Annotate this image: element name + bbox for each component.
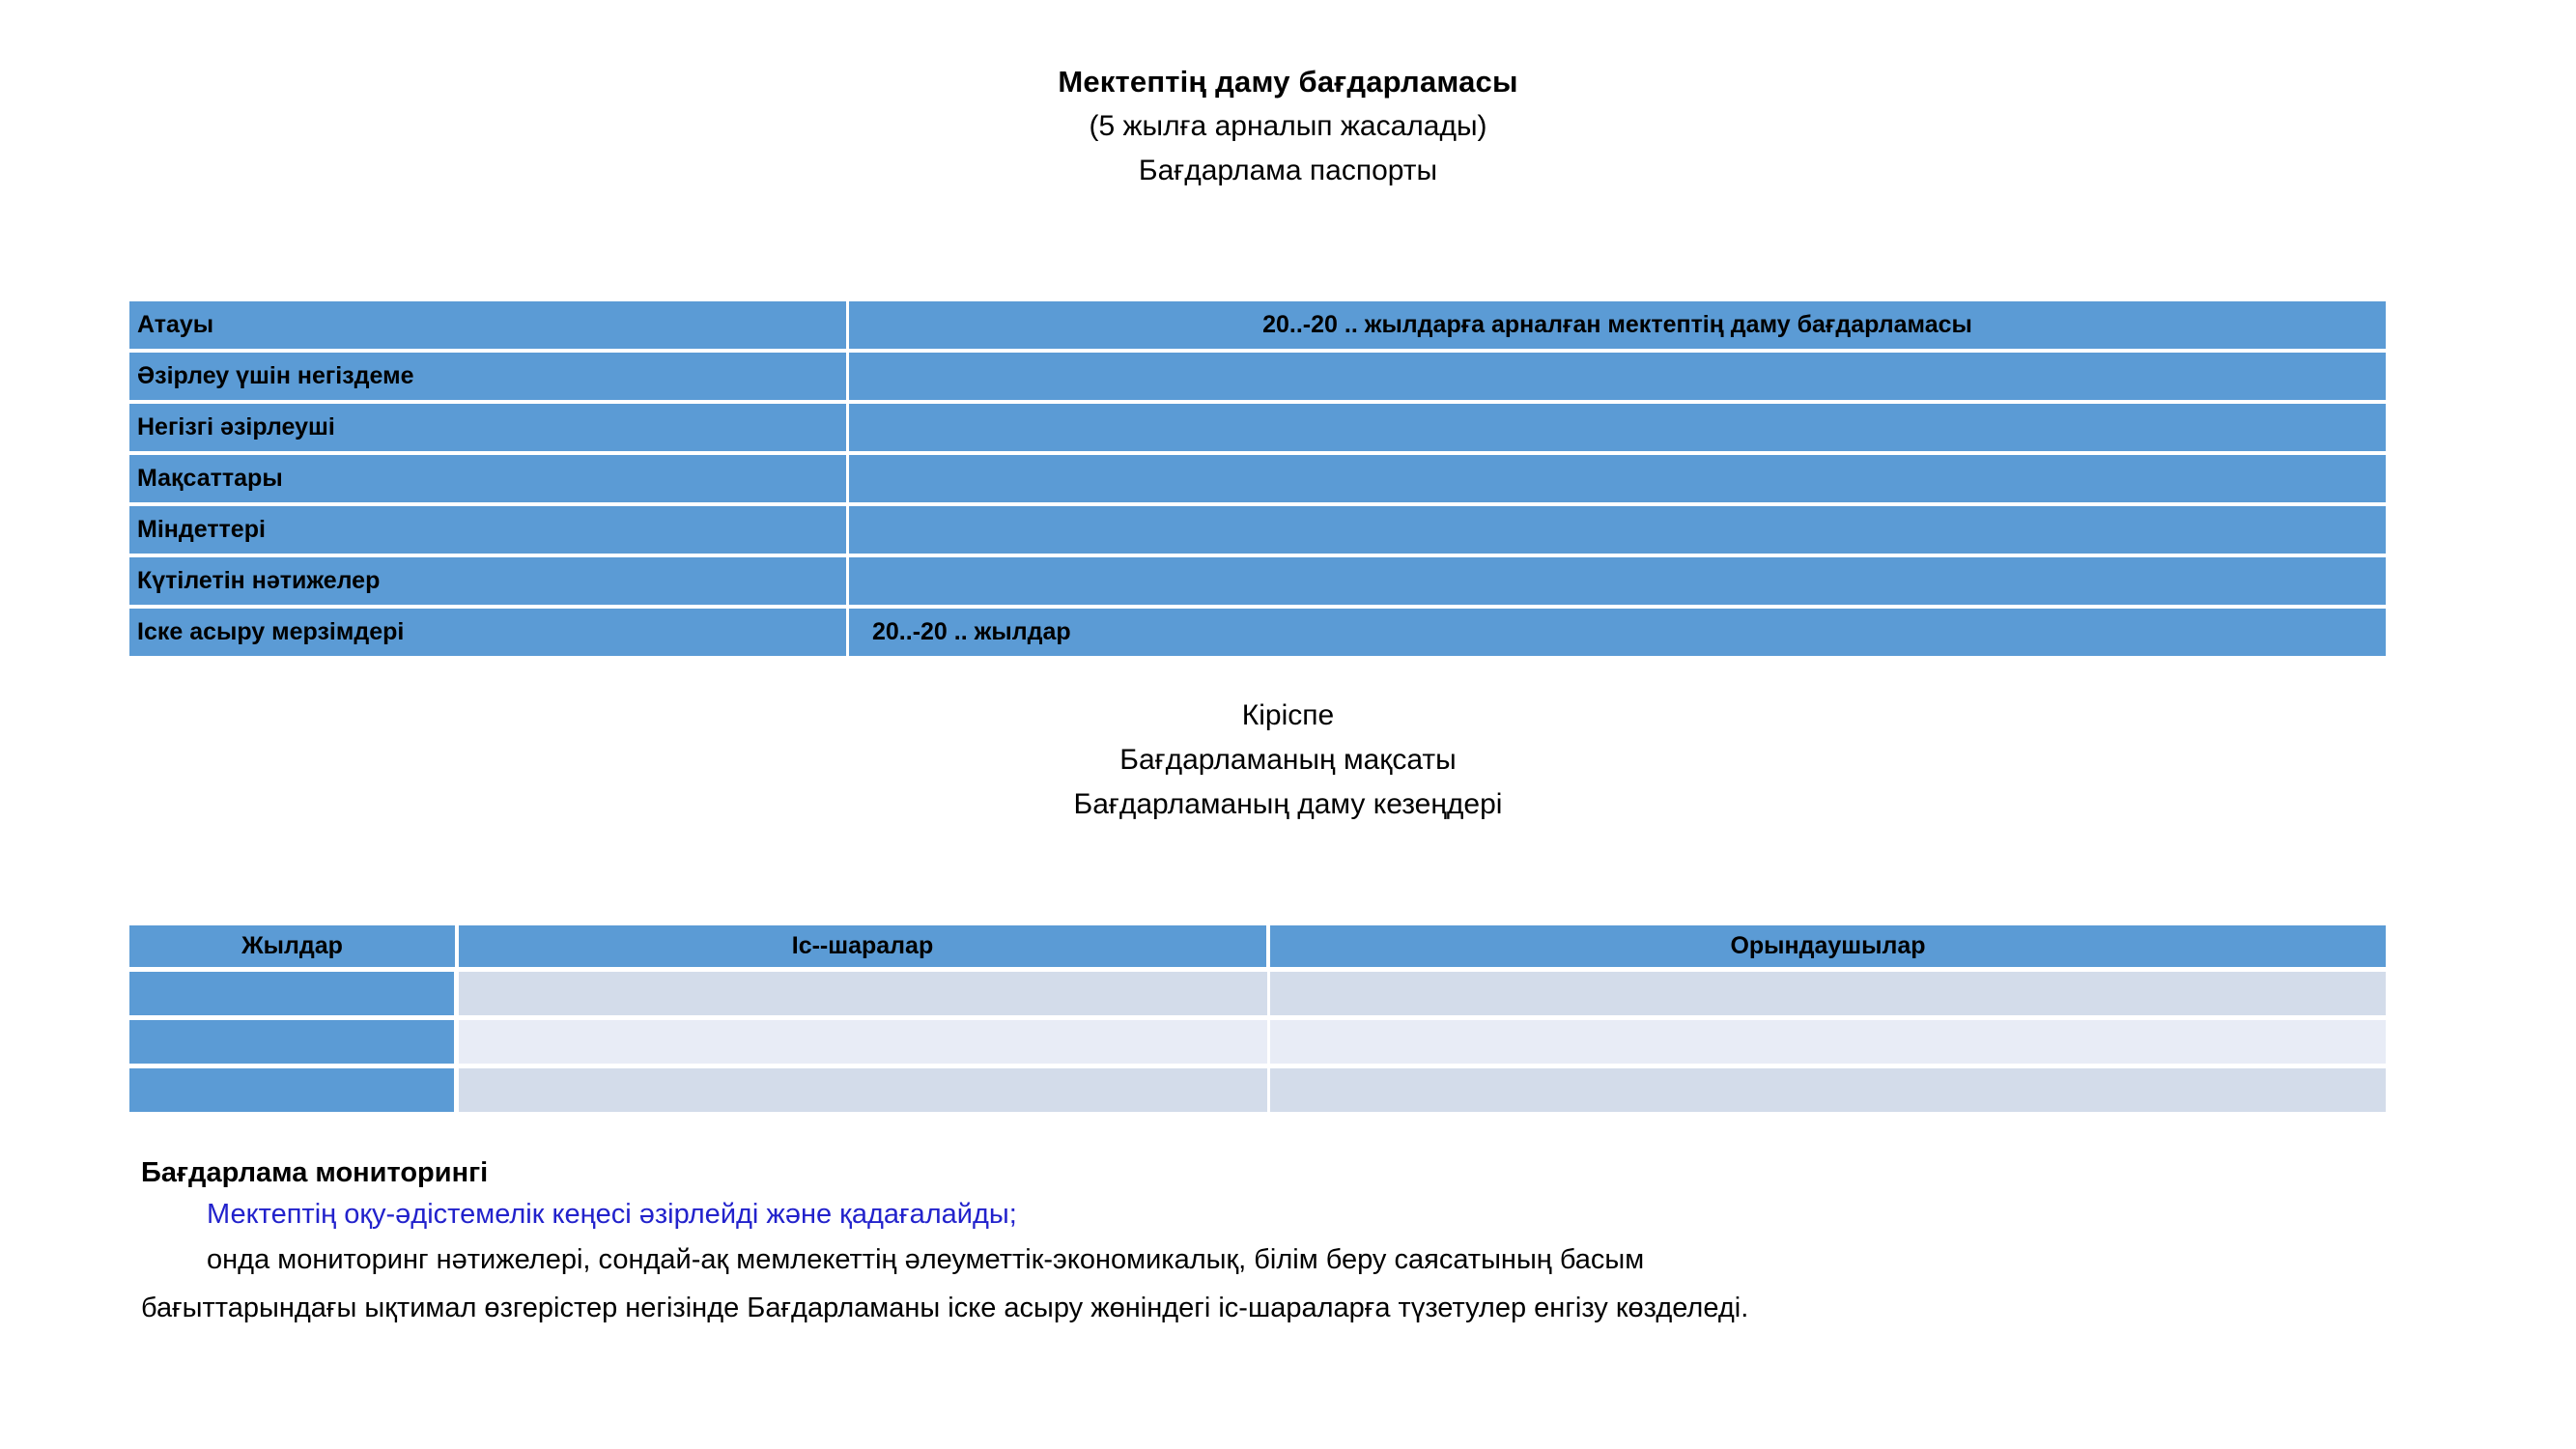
section-heading-kirispe: Кіріспе — [0, 694, 2576, 738]
page-title: Мектептің даму бағдарламасы — [0, 60, 2576, 104]
passport-value-negizdeme[interactable] — [849, 353, 2386, 404]
passport-value-natijeler[interactable] — [849, 557, 2386, 609]
passport-label-merzimderi: Іске асыру мерзімдері — [129, 609, 849, 656]
table-row — [129, 1068, 2386, 1112]
title-subtitle-passport: Бағдарлама паспорты — [0, 149, 2576, 193]
monitoring-paragraph-line-2: бағыттарындағы ықтимал өзгерістер негізі… — [141, 1284, 2459, 1332]
passport-label-maqsattary: Мақсаттары — [129, 455, 849, 506]
table-row — [129, 1020, 2386, 1068]
passport-value-mindetteri[interactable] — [849, 506, 2386, 557]
table-row: Мақсаттары — [129, 455, 2386, 506]
schedule-header-years: Жылдар — [129, 925, 459, 972]
schedule-cell-executors[interactable] — [1270, 1020, 2386, 1068]
section-heading-kezenderi: Бағдарламаның даму кезеңдері — [0, 782, 2576, 827]
section-headings-block: Кіріспе Бағдарламаның мақсаты Бағдарлама… — [0, 694, 2576, 827]
monitoring-paragraph-line-1: онда мониторинг нәтижелері, сондай-ақ ме… — [207, 1236, 2459, 1284]
title-subtitle-duration: (5 жылға арналып жасалады) — [0, 104, 2576, 149]
table-row: Атауы 20..-20 .. жылдарға арналған мекте… — [129, 301, 2386, 353]
schedule-table-head: Жылдар Іс--шаралар Орындаушылар — [129, 925, 2386, 972]
table-row: Негізгі әзірлеуші — [129, 404, 2386, 455]
table-row: Іске асыру мерзімдері 20..-20 .. жылдар — [129, 609, 2386, 656]
passport-label-mindetteri: Міндеттері — [129, 506, 849, 557]
passport-value-azirleushi[interactable] — [849, 404, 2386, 455]
schedule-cell-years[interactable] — [129, 1020, 459, 1068]
schedule-table-body — [129, 972, 2386, 1112]
passport-label-natijeler: Күтілетін нәтижелер — [129, 557, 849, 609]
passport-value-merzimderi[interactable]: 20..-20 .. жылдар — [849, 609, 2386, 656]
schedule-cell-events[interactable] — [459, 1020, 1270, 1068]
program-schedule-table: Жылдар Іс--шаралар Орындаушылар — [129, 925, 2386, 1112]
schedule-cell-events[interactable] — [459, 972, 1270, 1020]
program-passport-table: Атауы 20..-20 .. жылдарға арналған мекте… — [129, 301, 2386, 656]
passport-table-body: Атауы 20..-20 .. жылдарға арналған мекте… — [129, 301, 2386, 656]
passport-label-azirleushi: Негізгі әзірлеуші — [129, 404, 849, 455]
schedule-cell-events[interactable] — [459, 1068, 1270, 1112]
passport-label-atauy: Атауы — [129, 301, 849, 353]
schedule-cell-executors[interactable] — [1270, 972, 2386, 1020]
table-header-row: Жылдар Іс--шаралар Орындаушылар — [129, 925, 2386, 972]
schedule-header-executors: Орындаушылар — [1270, 925, 2386, 972]
table-row: Әзірлеу үшін негіздеме — [129, 353, 2386, 404]
schedule-header-events: Іс--шаралар — [459, 925, 1270, 972]
table-row — [129, 972, 2386, 1020]
table-row: Міндеттері — [129, 506, 2386, 557]
schedule-cell-years[interactable] — [129, 972, 459, 1020]
passport-value-maqsattary[interactable] — [849, 455, 2386, 506]
passport-value-atauy[interactable]: 20..-20 .. жылдарға арналған мектептің д… — [849, 301, 2386, 353]
schedule-cell-years[interactable] — [129, 1068, 459, 1112]
table-row: Күтілетін нәтижелер — [129, 557, 2386, 609]
monitoring-heading: Бағдарлама мониторингі — [141, 1152, 2459, 1193]
passport-label-negizdeme: Әзірлеу үшін негіздеме — [129, 353, 849, 404]
monitoring-section: Бағдарлама мониторингі Мектептің оқу-әді… — [141, 1152, 2459, 1332]
monitoring-link-line[interactable]: Мектептің оқу-әдістемелік кеңесі әзірлей… — [207, 1193, 2459, 1236]
section-heading-maqsaty: Бағдарламаның мақсаты — [0, 738, 2576, 782]
document-title-block: Мектептің даму бағдарламасы (5 жылға арн… — [0, 60, 2576, 193]
schedule-cell-executors[interactable] — [1270, 1068, 2386, 1112]
